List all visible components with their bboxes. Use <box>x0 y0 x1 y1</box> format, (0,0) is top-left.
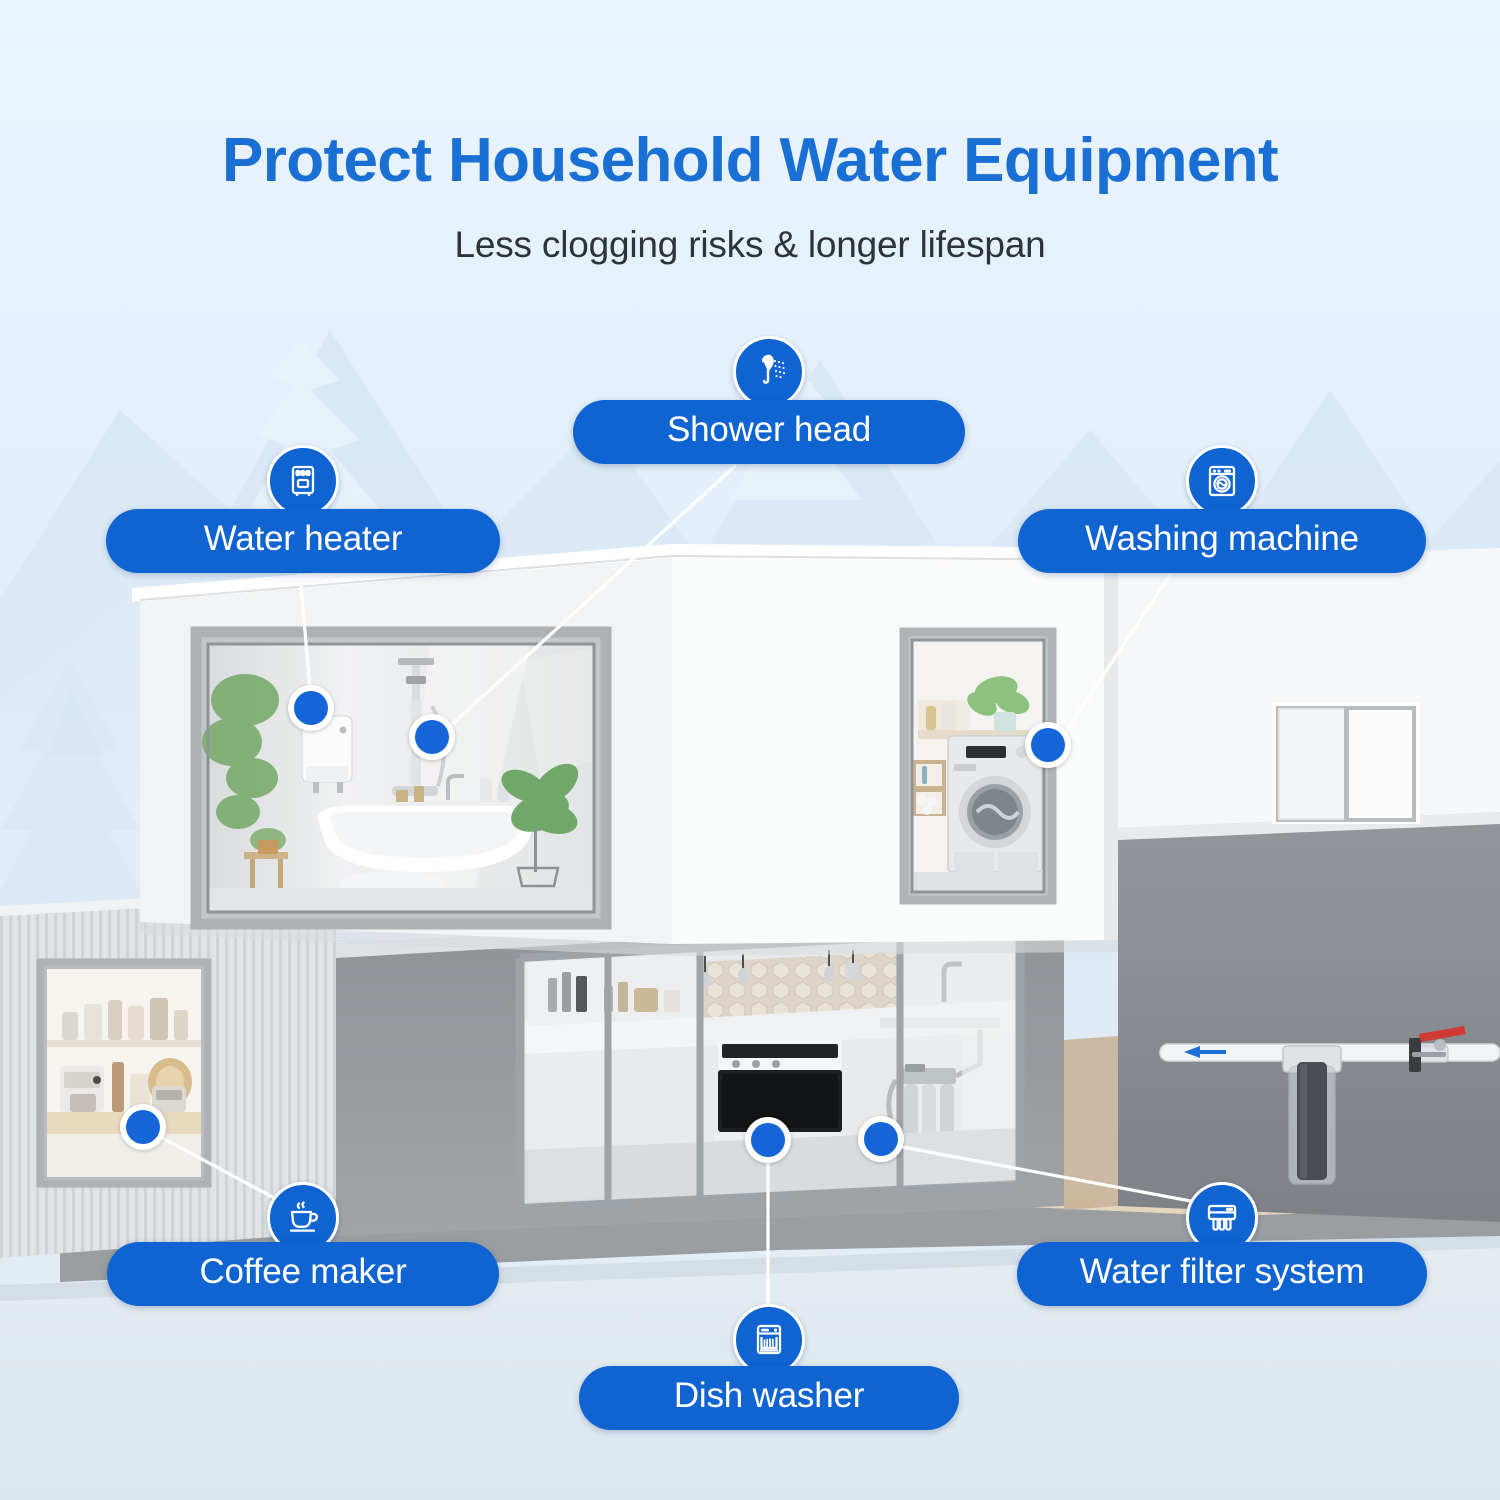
shower-head-icon <box>733 336 805 408</box>
marker-dot-shower-head[interactable] <box>409 714 455 760</box>
label-pill-dish-washer[interactable]: Dish washer <box>579 1366 959 1430</box>
infographic-canvas: Shower head Water heater Washing machine <box>0 0 1500 1500</box>
washing-machine-icon <box>1186 445 1258 517</box>
marker-dot-washing-machine[interactable] <box>1025 722 1071 768</box>
label-pill-water-filter-system[interactable]: Water filter system <box>1017 1242 1427 1306</box>
label-text-washing-machine: Washing machine <box>1085 519 1359 559</box>
label-text-water-filter-system: Water filter system <box>1080 1252 1365 1292</box>
page-subtitle: Less clogging risks & longer lifespan <box>0 224 1500 266</box>
marker-dot-coffee-maker[interactable] <box>120 1104 166 1150</box>
label-text-shower-head: Shower head <box>667 410 871 450</box>
laundry-interior <box>912 640 1044 892</box>
marker-dot-dish-washer[interactable] <box>745 1117 791 1163</box>
pantry-interior <box>47 969 201 1177</box>
marker-dot-water-heater[interactable] <box>288 685 334 731</box>
water-heater-icon <box>267 445 339 517</box>
label-text-coffee-maker: Coffee maker <box>199 1252 406 1292</box>
label-pill-coffee-maker[interactable]: Coffee maker <box>107 1242 499 1306</box>
bathroom-interior <box>202 644 594 912</box>
label-text-water-heater: Water heater <box>204 519 403 559</box>
label-pill-shower-head[interactable]: Shower head <box>573 400 965 464</box>
marker-dot-water-filter[interactable] <box>858 1116 904 1162</box>
page-title: Protect Household Water Equipment <box>0 128 1500 193</box>
label-pill-water-heater[interactable]: Water heater <box>106 509 500 573</box>
label-text-dish-washer: Dish washer <box>674 1376 864 1416</box>
label-pill-washing-machine[interactable]: Washing machine <box>1018 509 1426 573</box>
